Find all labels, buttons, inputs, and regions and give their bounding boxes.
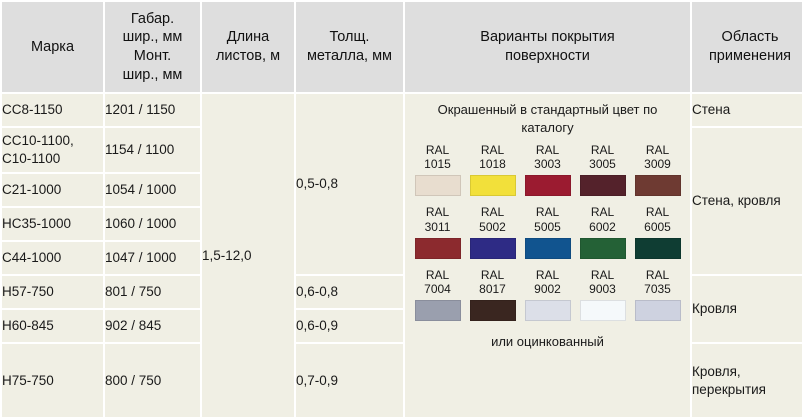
cell-width: 1047 / 1000 xyxy=(105,242,200,274)
ral-label: RAL 7004 xyxy=(424,268,451,296)
ral-item[interactable]: RAL 5002 xyxy=(470,205,516,258)
cell-width: 1201 / 1150 xyxy=(105,94,200,126)
column-header-application-area: Область применения xyxy=(692,2,802,92)
ral-label: RAL 9003 xyxy=(589,268,616,296)
ral-item[interactable]: RAL 8017 xyxy=(470,268,516,321)
spec-table-sheet: Марка Габар. шир., мм Монт. шир., мм Дли… xyxy=(0,0,802,405)
table-body: СС8-1150 1201 / 1150 1,5-12,0 0,5-0,8 Ок… xyxy=(2,94,802,417)
ral-row-3: RAL 7004 RAL 8017 RAL 9002 xyxy=(415,268,681,321)
column-header-surface-coating: Варианты покрытия поверхности xyxy=(405,2,690,92)
ral-swatch xyxy=(580,175,626,196)
cell-width: 800 / 750 xyxy=(105,344,200,417)
ral-item[interactable]: RAL 6005 xyxy=(635,205,681,258)
cell-application: Кровля, перекрытия xyxy=(692,344,802,417)
ral-item[interactable]: RAL 1015 xyxy=(415,143,461,196)
ral-swatch xyxy=(470,238,516,259)
ral-swatch xyxy=(635,238,681,259)
cell-width: 801 / 750 xyxy=(105,276,200,308)
cell-brand: Н60-845 xyxy=(2,310,103,342)
cell-width: 1054 / 1000 xyxy=(105,174,200,206)
ral-label: RAL 8017 xyxy=(479,268,506,296)
ral-item[interactable]: RAL 5005 xyxy=(525,205,571,258)
ral-item[interactable]: RAL 1018 xyxy=(470,143,516,196)
cell-brand: Н75-750 xyxy=(2,344,103,417)
cell-brand: НС35-1000 xyxy=(2,208,103,240)
table-row: СС8-1150 1201 / 1150 1,5-12,0 0,5-0,8 Ок… xyxy=(2,94,802,126)
cell-surface-coating: Окрашенный в стандартный цвет по каталог… xyxy=(405,94,690,417)
column-header-metal-thickness: Толщ. металла, мм xyxy=(296,2,403,92)
ral-swatch xyxy=(415,238,461,259)
cell-width: 1060 / 1000 xyxy=(105,208,200,240)
cell-brand: С44-1000 xyxy=(2,242,103,274)
ral-label: RAL 6002 xyxy=(589,205,616,233)
ral-swatch xyxy=(525,175,571,196)
column-header-brand: Марка xyxy=(2,2,103,92)
cell-thickness: 0,7-0,9 xyxy=(296,344,403,417)
cell-width: 1154 / 1100 xyxy=(105,128,200,172)
coating-footer: или оцинкованный xyxy=(491,334,604,349)
cell-application: Кровля xyxy=(692,276,802,342)
ral-label: RAL 1015 xyxy=(424,143,451,171)
ral-item[interactable]: RAL 3011 xyxy=(415,205,461,258)
ral-swatch xyxy=(415,300,461,321)
ral-swatch xyxy=(525,300,571,321)
header-row: Марка Габар. шир., мм Монт. шир., мм Дли… xyxy=(2,2,802,92)
table-header: Марка Габар. шир., мм Монт. шир., мм Дли… xyxy=(2,2,802,92)
ral-swatch xyxy=(470,175,516,196)
ral-label: RAL 1018 xyxy=(479,143,506,171)
ral-item[interactable]: RAL 7004 xyxy=(415,268,461,321)
ral-swatch xyxy=(525,238,571,259)
column-header-sheet-length: Длина листов, м xyxy=(202,2,294,92)
cell-application: Стена, кровля xyxy=(692,128,802,274)
ral-item[interactable]: RAL 9002 xyxy=(525,268,571,321)
ral-swatch xyxy=(415,175,461,196)
ral-label: RAL 3011 xyxy=(425,205,451,233)
ral-item[interactable]: RAL 6002 xyxy=(580,205,626,258)
ral-label: RAL 3009 xyxy=(644,143,671,171)
ral-swatch xyxy=(580,238,626,259)
ral-item[interactable]: RAL 3009 xyxy=(635,143,681,196)
ral-swatch xyxy=(580,300,626,321)
cell-thickness: 0,5-0,8 xyxy=(296,94,403,274)
ral-row-1: RAL 1015 RAL 1018 RAL 3003 xyxy=(415,143,681,196)
ral-item[interactable]: RAL 9003 xyxy=(580,268,626,321)
ral-item[interactable]: RAL 7035 xyxy=(635,268,681,321)
specification-table: Марка Габар. шир., мм Монт. шир., мм Дли… xyxy=(0,0,802,419)
ral-label: RAL 3005 xyxy=(589,143,616,171)
ral-swatch xyxy=(470,300,516,321)
cell-thickness: 0,6-0,8 xyxy=(296,276,403,308)
cell-brand: СС10-1100, С10-1100 xyxy=(2,128,103,172)
cell-application: Стена xyxy=(692,94,802,126)
ral-label: RAL 5005 xyxy=(534,205,561,233)
cell-width: 902 / 845 xyxy=(105,310,200,342)
ral-label: RAL 7035 xyxy=(644,268,671,296)
ral-item[interactable]: RAL 3003 xyxy=(525,143,571,196)
ral-label: RAL 5002 xyxy=(479,205,506,233)
ral-row-2: RAL 3011 RAL 5002 RAL 5005 xyxy=(415,205,681,258)
cell-brand: С21-1000 xyxy=(2,174,103,206)
ral-swatch xyxy=(635,300,681,321)
ral-swatch xyxy=(635,175,681,196)
cell-sheet-length: 1,5-12,0 xyxy=(202,94,294,417)
column-header-width: Габар. шир., мм Монт. шир., мм xyxy=(105,2,200,92)
ral-label: RAL 6005 xyxy=(644,205,671,233)
coating-title: Окрашенный в стандартный цвет по каталог… xyxy=(422,101,674,136)
coating-panel: Окрашенный в стандартный цвет по каталог… xyxy=(405,94,690,417)
ral-item[interactable]: RAL 3005 xyxy=(580,143,626,196)
ral-label: RAL 3003 xyxy=(534,143,561,171)
cell-brand: СС8-1150 xyxy=(2,94,103,126)
cell-thickness: 0,6-0,9 xyxy=(296,310,403,342)
cell-brand: Н57-750 xyxy=(2,276,103,308)
ral-label: RAL 9002 xyxy=(534,268,561,296)
